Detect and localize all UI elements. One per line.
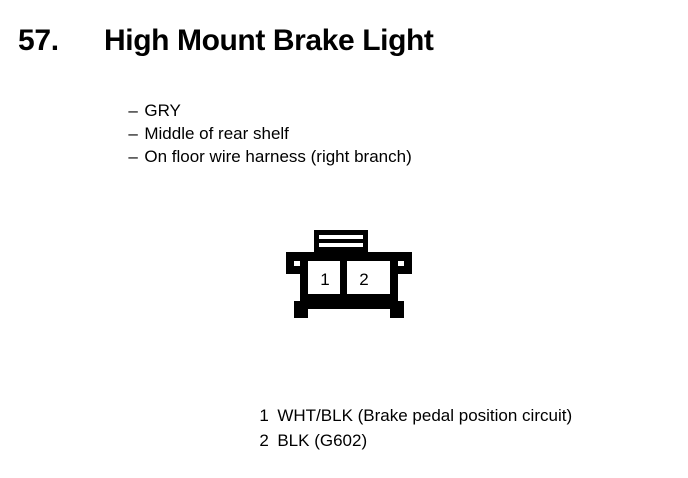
section-number: 57. xyxy=(18,22,59,60)
page-title: High Mount Brake Light xyxy=(104,22,434,60)
dash-bullet-icon: – xyxy=(128,145,144,168)
page-root: 57. High Mount Brake Light –GRY –Middle … xyxy=(0,0,688,454)
specification-list: –GRY –Middle of rear shelf –On floor wir… xyxy=(100,76,620,145)
legend-pin-label: WHT/BLK (Brake pedal position circuit) xyxy=(277,406,572,425)
page-header: 57. High Mount Brake Light xyxy=(0,22,688,64)
dash-bullet-icon: – xyxy=(128,99,144,122)
list-item-label: On floor wire harness (right branch) xyxy=(144,147,411,166)
cavity-number-1: 1 xyxy=(320,270,329,289)
connector-illustration: 1 2 xyxy=(286,230,416,326)
cavity-number-2: 2 xyxy=(359,270,368,289)
legend-pin-label: BLK (G602) xyxy=(277,431,367,450)
list-item-label: Middle of rear shelf xyxy=(144,124,289,143)
pinout-legend: 1WHT/BLK (Brake pedal position circuit) … xyxy=(231,378,671,428)
legend-pin-number: 2 xyxy=(259,428,277,453)
legend-row: 1WHT/BLK (Brake pedal position circuit) xyxy=(231,378,671,403)
connector-latch-tab xyxy=(314,230,368,252)
dash-bullet-icon: – xyxy=(128,122,144,145)
legend-pin-number: 1 xyxy=(259,403,277,428)
connector-housing xyxy=(286,252,412,318)
list-item-label: GRY xyxy=(144,101,181,120)
connector-diagram: 1 2 xyxy=(286,230,416,326)
list-item: –GRY xyxy=(100,76,620,99)
